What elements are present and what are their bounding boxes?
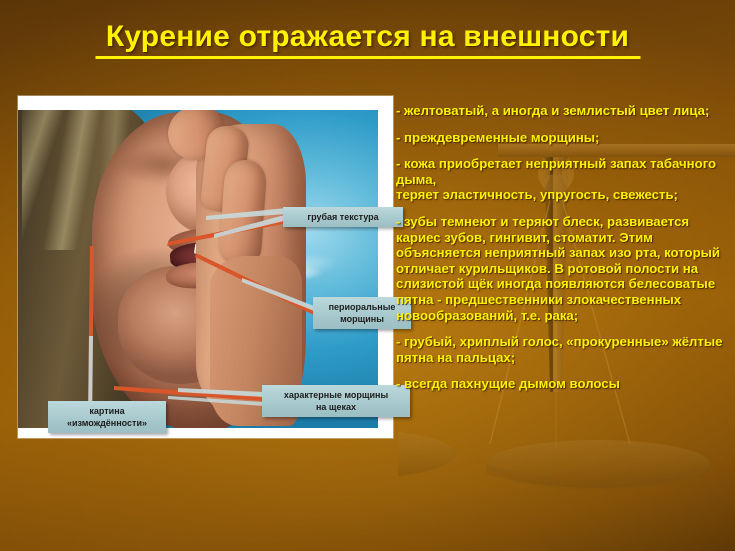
- slide-title-text: Курение отражается на внешности: [106, 20, 629, 53]
- bullet-paragraph: - зубы темнеют и теряют блеск, развивает…: [396, 214, 732, 323]
- title-underline: [95, 56, 640, 59]
- bullet-paragraph: - кожа приобретает неприятный запах таба…: [396, 156, 732, 203]
- middle-finger: [218, 159, 267, 266]
- bullet-paragraph: - грубый, хриплый голос, «прокуренные» ж…: [396, 334, 732, 365]
- presentation-slide: Курение отражается на внешности: [0, 0, 735, 551]
- bullet-paragraph: - желтоватый, а иногда и землистый цвет …: [396, 103, 732, 119]
- photo-panel: грубая текстура периоральные морщины хар…: [18, 96, 393, 438]
- callout-grubaya-tekstura: грубая текстура: [283, 207, 403, 227]
- smoker-photo: [18, 110, 378, 428]
- slide-title: Курение отражается на внешности: [0, 20, 735, 54]
- body-text-column: - желтоватый, а иногда и землистый цвет …: [396, 103, 732, 392]
- callout-kartina-izmozhdennosti: картина «измождённости»: [48, 401, 166, 433]
- callout-kharakternye-morshchiny-na-shchekakh: характерные морщины на щеках: [262, 385, 410, 417]
- bullet-paragraph: - всегда пахнущие дымом волосы: [396, 376, 732, 392]
- bullet-paragraph: - преждевременные морщины;: [396, 130, 732, 146]
